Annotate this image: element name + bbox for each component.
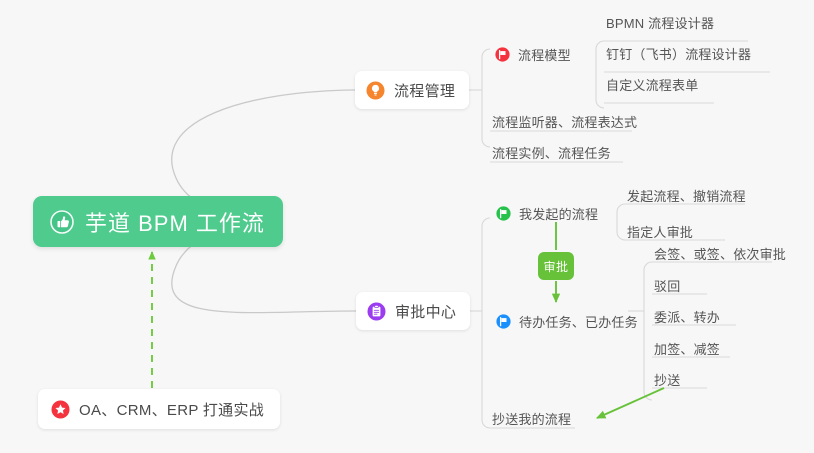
flag-icon-blue <box>496 314 511 329</box>
mindmap-canvas: 芋道 BPM 工作流 流程管理 流程模型 BPMN 流程设计器 钉钉（飞书）流程… <box>0 0 814 453</box>
approval-annotation-chip: 审批 <box>538 252 574 280</box>
node-label-integration-practice: OA、CRM、ERP 打通实战 <box>79 399 264 420</box>
flag-icon-green <box>496 206 511 221</box>
leaf-cc[interactable]: 抄送 <box>654 370 680 394</box>
branch-node-approval-center[interactable]: 审批中心 <box>356 292 470 330</box>
leaf-process-instance[interactable]: 流程实例、流程任务 <box>492 143 611 167</box>
node-my-initiated-process[interactable]: 我发起的流程 <box>496 204 598 223</box>
node-label-my-initiated-process: 我发起的流程 <box>519 204 598 223</box>
leaf-delegate-transfer[interactable]: 委派、转办 <box>654 307 720 331</box>
root-node[interactable]: 芋道 BPM 工作流 <box>33 196 283 247</box>
node-integration-practice[interactable]: OA、CRM、ERP 打通实战 <box>38 389 280 429</box>
star-icon <box>51 400 70 419</box>
leaf-designated-approver[interactable]: 指定人审批 <box>627 222 693 246</box>
root-label: 芋道 BPM 工作流 <box>85 206 265 238</box>
leaf-bpmn-designer[interactable]: BPMN 流程设计器 <box>606 13 714 37</box>
leaf-cc-my-process[interactable]: 抄送我的流程 <box>492 409 571 433</box>
leaf-process-listener[interactable]: 流程监听器、流程表达式 <box>492 112 637 136</box>
branch-node-process-management[interactable]: 流程管理 <box>355 71 469 109</box>
flag-icon-red <box>495 47 510 62</box>
node-todo-done-tasks[interactable]: 待办任务、已办任务 <box>496 312 638 331</box>
clipboard-icon <box>367 302 386 321</box>
node-process-model[interactable]: 流程模型 <box>495 45 571 64</box>
leaf-custom-process-form[interactable]: 自定义流程表单 <box>606 75 698 99</box>
node-label-todo-done-tasks: 待办任务、已办任务 <box>519 312 638 331</box>
lightbulb-icon <box>366 81 385 100</box>
node-label-process-model: 流程模型 <box>518 45 571 64</box>
leaf-countersign-orsign-sequential[interactable]: 会签、或签、依次审批 <box>654 244 786 268</box>
branch-label-approval-center: 审批中心 <box>395 301 456 322</box>
leaf-reject[interactable]: 驳回 <box>654 276 680 300</box>
leaf-dingtalk-feishu-designer[interactable]: 钉钉（飞书）流程设计器 <box>606 44 751 68</box>
leaf-add-remove-sign[interactable]: 加签、减签 <box>654 339 720 363</box>
leaf-start-cancel-process[interactable]: 发起流程、撤销流程 <box>627 186 746 210</box>
branch-label-process-management: 流程管理 <box>394 80 455 101</box>
thumbs-up-icon <box>49 209 75 235</box>
